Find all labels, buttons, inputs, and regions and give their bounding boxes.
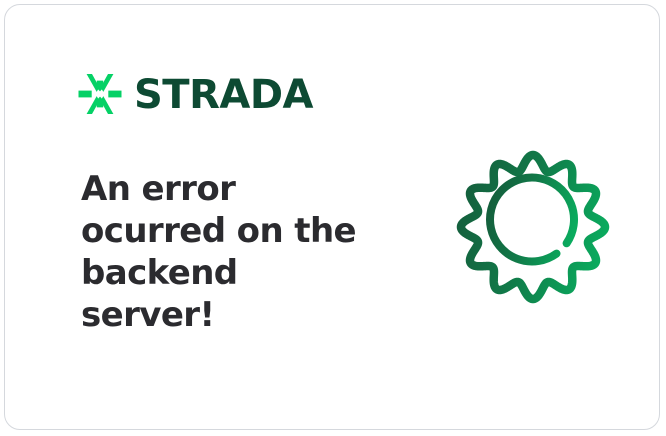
error-card: STRADA An error ocurred on the backend s… [4, 4, 660, 430]
gear-illustration [449, 143, 617, 311]
brand-name: STRADA [134, 75, 313, 115]
gear-icon [449, 143, 617, 311]
brand-lockup: STRADA [77, 71, 313, 117]
strada-asterisk-icon [77, 71, 123, 117]
error-message: An error ocurred on the backend server! [81, 168, 381, 336]
error-screen: STRADA An error ocurred on the backend s… [0, 0, 666, 436]
